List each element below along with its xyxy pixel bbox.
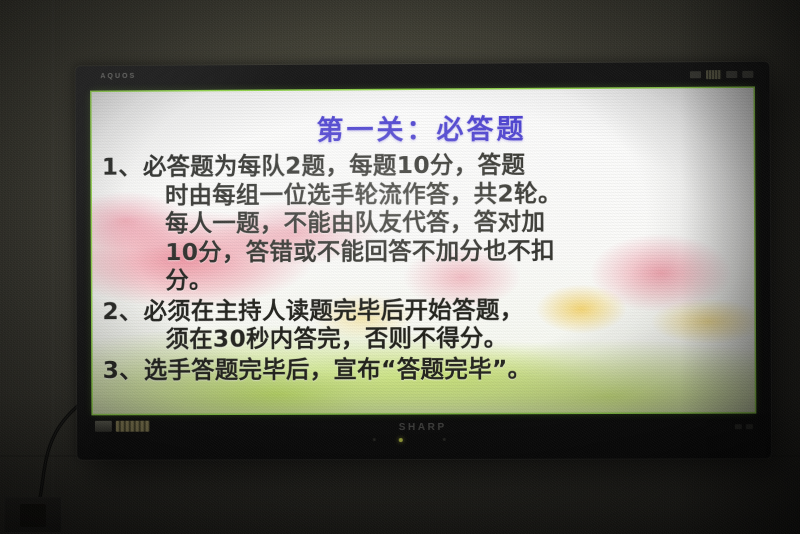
bezel-stickers (95, 421, 150, 432)
rule-3-line-1: 选手答题完毕后，宣布“答题完毕”。 (144, 354, 532, 383)
slide-title: 第一关：必答题 (102, 106, 744, 149)
rule-1-line-5: 分。 (143, 264, 744, 295)
rule-item-1: 1、 必答题为每队2题，每题10分，答题 时由每组一位选手轮流作答，共2轮。 每… (102, 149, 745, 295)
photo-scene: AQUOS 第一关：必答题 1、 必答题为每队2题，每题10分，答题 (0, 0, 800, 534)
bezel-mark-box (726, 71, 737, 78)
sharp-brand-label: SHARP (399, 422, 447, 433)
bezel-bottom-right-marks (735, 424, 753, 429)
rule-item-3: 3、 选手答题完毕后，宣布“答题完毕”。 (103, 354, 745, 385)
bezel-mark (746, 424, 753, 429)
bezel-mark-box (742, 71, 753, 78)
rule-2-line-1: 必须在主持人读题完毕后开始答题， (144, 295, 524, 324)
rule-1-line-2: 时由每组一位选手轮流作答，共2轮。 (143, 178, 744, 210)
sensor-dot (443, 438, 446, 441)
wall-seam-vertical (52, 0, 54, 534)
ir-receiver (373, 438, 376, 441)
rule-number-1: 1、 (102, 153, 143, 182)
rule-item-2: 2、 必须在主持人读题完毕后开始答题， 须在30秒内答完，否则不得分。 (102, 294, 744, 353)
bezel-sticker-round (95, 421, 112, 432)
rule-1-line-1: 必答题为每队2题，每题10分，答题 (143, 150, 525, 180)
tv-bezel-bottom: SHARP (77, 412, 771, 460)
power-plug (20, 504, 46, 527)
tv-top-right-markings (685, 70, 753, 79)
rule-number-2: 2、 (102, 297, 143, 326)
rule-body-2: 必须在主持人读题完毕后开始答题， 须在30秒内答完，否则不得分。 (144, 294, 745, 353)
bezel-mark (735, 424, 742, 429)
rule-body-1: 必答题为每队2题，每题10分，答题 时由每组一位选手轮流作答，共2轮。 每人一题… (143, 149, 744, 295)
slide-content: 第一关：必答题 1、 必答题为每队2题，每题10分，答题 时由每组一位选手轮流作… (92, 88, 755, 414)
rule-1-line-3: 每人一题，不能由队友代答，答对加 (143, 206, 744, 237)
rule-number-3: 3、 (103, 356, 144, 385)
rule-body-3: 选手答题完毕后，宣布“答题完毕”。 (144, 354, 745, 384)
bezel-chip-mark (706, 70, 721, 79)
television: AQUOS 第一关：必答题 1、 必答题为每队2题，每题10分，答题 (76, 62, 772, 460)
tv-screen: 第一关：必答题 1、 必答题为每队2题，每题10分，答题 时由每组一位选手轮流作… (92, 88, 755, 414)
rules-list: 1、 必答题为每队2题，每题10分，答题 时由每组一位选手轮流作答，共2轮。 每… (102, 149, 745, 384)
bezel-sticker-label (116, 421, 150, 432)
bezel-mark-box (690, 71, 701, 78)
aquos-brand-label: AQUOS (100, 73, 136, 80)
rule-1-line-4: 10分，答错或不能回答不加分也不扣 (143, 235, 744, 266)
power-led-indicator (399, 438, 403, 442)
rule-2-line-2: 须在30秒内答完，否则不得分。 (144, 323, 745, 354)
